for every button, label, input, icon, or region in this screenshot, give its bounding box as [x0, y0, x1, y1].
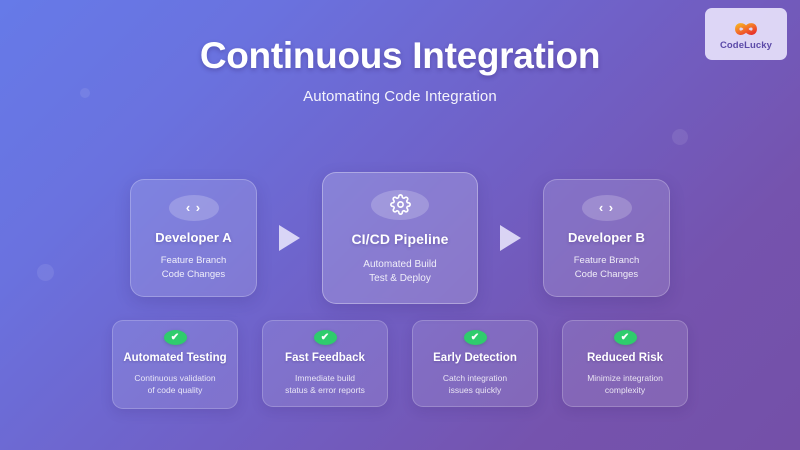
flow-card-detail-line: Automated Build	[363, 258, 436, 273]
benefit-detail: Continuous validation of code quality	[134, 372, 215, 396]
benefit-detail: Immediate build status & error reports	[285, 372, 365, 396]
flow-card-detail-line: Feature Branch	[574, 254, 639, 268]
benefit-title: Fast Feedback	[285, 351, 365, 365]
benefit-detail-line: status & error reports	[285, 384, 365, 396]
flow-card-detail: Feature Branch Code Changes	[574, 254, 639, 282]
check-icon: ✔	[464, 330, 487, 345]
flow-card-detail-line: Feature Branch	[161, 254, 226, 268]
code-brackets-icon: ‹ ›	[169, 195, 219, 221]
benefit-detail-line: Immediate build	[285, 372, 365, 384]
flow-card-detail-line: Test & Deploy	[363, 272, 436, 287]
flow-card-detail-line: Code Changes	[574, 268, 639, 282]
flow-card-developer-a[interactable]: ‹ › Developer A Feature Branch Code Chan…	[130, 179, 257, 297]
check-icon: ✔	[614, 330, 637, 345]
benefit-card-automated-testing[interactable]: ✔ Automated Testing Continuous validatio…	[112, 320, 238, 409]
flow-card-title: CI/CD Pipeline	[351, 231, 448, 247]
benefit-card-fast-feedback[interactable]: ✔ Fast Feedback Immediate build status &…	[262, 320, 388, 407]
code-brackets-glyph: ‹ ›	[186, 201, 201, 214]
benefits-row: ✔ Automated Testing Continuous validatio…	[0, 320, 800, 410]
pipeline-flow: ‹ › Developer A Feature Branch Code Chan…	[0, 173, 800, 303]
benefit-detail: Minimize integration complexity	[587, 372, 663, 396]
check-glyph: ✔	[321, 333, 329, 343]
benefit-card-early-detection[interactable]: ✔ Early Detection Catch integration issu…	[412, 320, 538, 407]
benefit-detail: Catch integration issues quickly	[443, 372, 507, 396]
flow-card-detail-line: Code Changes	[161, 268, 226, 282]
benefit-detail-line: Continuous validation	[134, 372, 215, 384]
flow-card-title: Developer A	[155, 230, 231, 245]
page-subtitle: Automating Code Integration	[0, 88, 800, 105]
benefit-title: Reduced Risk	[587, 351, 663, 365]
flow-card-cicd-pipeline[interactable]: CI/CD Pipeline Automated Build Test & De…	[322, 172, 478, 304]
benefit-title: Early Detection	[433, 351, 517, 365]
check-glyph: ✔	[471, 333, 479, 343]
flow-card-detail: Feature Branch Code Changes	[161, 254, 226, 282]
flow-card-detail: Automated Build Test & Deploy	[363, 258, 436, 287]
benefit-card-reduced-risk[interactable]: ✔ Reduced Risk Minimize integration comp…	[562, 320, 688, 407]
benefit-detail-line: issues quickly	[443, 384, 507, 396]
page-title: Continuous Integration	[0, 36, 800, 77]
gear-glyph	[390, 194, 411, 215]
triangle-right-icon	[279, 225, 300, 251]
benefit-detail-line: complexity	[587, 384, 663, 396]
header: Continuous Integration Automating Code I…	[0, 36, 800, 105]
benefit-detail-line: Catch integration	[443, 372, 507, 384]
check-glyph: ✔	[171, 333, 179, 343]
check-glyph: ✔	[621, 333, 629, 343]
code-brackets-icon: ‹ ›	[582, 195, 632, 221]
check-icon: ✔	[164, 330, 187, 345]
background-dot	[672, 129, 688, 145]
benefit-detail-line: of code quality	[134, 384, 215, 396]
gear-icon	[371, 190, 429, 220]
benefit-detail-line: Minimize integration	[587, 372, 663, 384]
check-icon: ✔	[314, 330, 337, 345]
benefit-title: Automated Testing	[123, 351, 226, 365]
code-brackets-glyph: ‹ ›	[599, 201, 614, 214]
flow-card-developer-b[interactable]: ‹ › Developer B Feature Branch Code Chan…	[543, 179, 670, 297]
flow-card-title: Developer B	[568, 230, 645, 245]
triangle-right-icon	[500, 225, 521, 251]
